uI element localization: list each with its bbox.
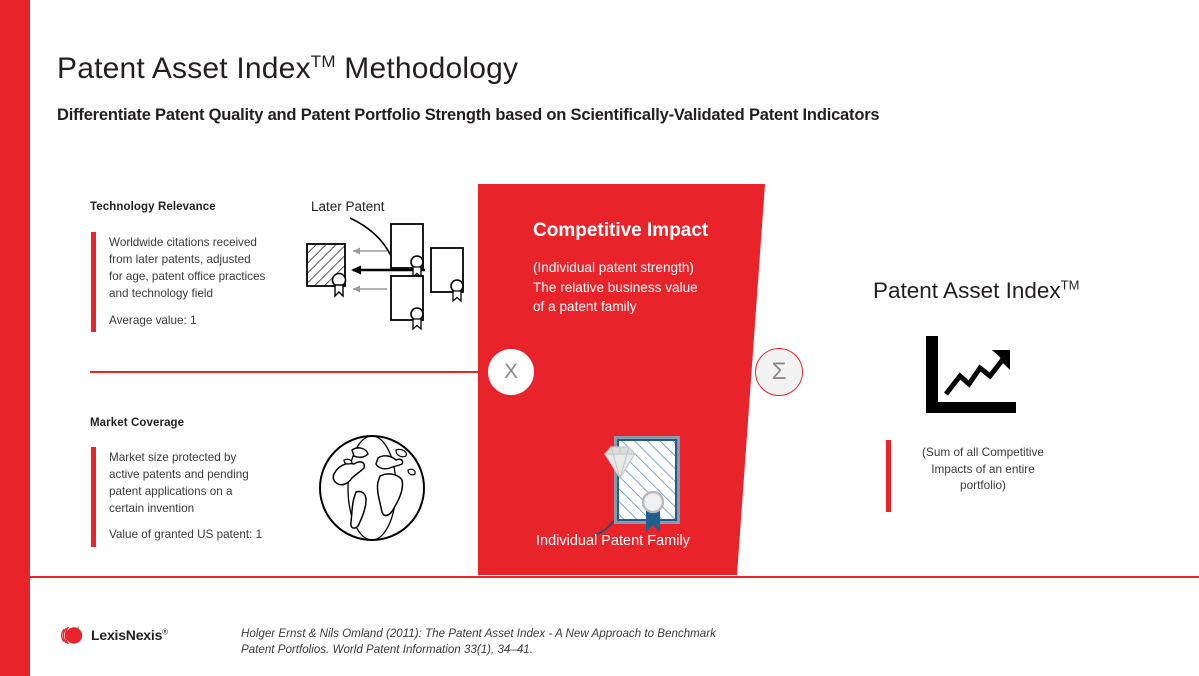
sum-symbol: Σ: [772, 358, 787, 386]
source-citation: Holger Ernst & Nils Omland (2011): The P…: [241, 626, 861, 658]
slide-canvas: Patent Asset IndexTM Methodology Differe…: [0, 0, 1199, 676]
patent-asset-index-title-text: Patent Asset Index: [873, 278, 1061, 303]
footer-divider: [30, 576, 1199, 578]
multiply-symbol: X: [504, 360, 518, 384]
lexisnexis-sphere-icon: [60, 624, 84, 646]
competitive-impact-title: Competitive Impact: [533, 220, 708, 242]
registered-symbol: ®: [162, 627, 168, 636]
patent-certificate-icon: [583, 428, 703, 543]
trademark-symbol: TM: [311, 52, 336, 71]
technology-relevance-label: Technology Relevance: [90, 201, 216, 213]
page-title-main: Patent Asset Index: [57, 52, 311, 85]
lexisnexis-wordmark-text: LexisNexis: [91, 627, 162, 643]
market-coverage-label: Market Coverage: [90, 417, 184, 429]
market-coverage-value: Value of granted US patent: 1: [109, 528, 262, 541]
technology-relevance-accent-bar: [91, 232, 96, 332]
page-title: Patent Asset IndexTM Methodology: [57, 52, 518, 86]
multiply-operator: X: [487, 348, 535, 396]
competitive-impact-description: (Individual patent strength) The relativ…: [533, 258, 763, 317]
lexisnexis-logo: LexisNexis®: [60, 624, 168, 646]
technology-relevance-description: Worldwide citations received from later …: [109, 234, 309, 302]
trademark-symbol-right: TM: [1061, 278, 1080, 293]
patent-citation-diagram-icon: [295, 196, 475, 331]
lexisnexis-wordmark: LexisNexis®: [91, 627, 168, 643]
market-coverage-accent-bar: [91, 447, 96, 547]
globe-icon: [308, 430, 436, 546]
page-subtitle: Differentiate Patent Quality and Patent …: [57, 106, 879, 125]
page-title-suffix: Methodology: [336, 52, 519, 85]
patent-asset-index-accent-bar: [886, 440, 891, 512]
growth-chart-icon: [920, 332, 1020, 418]
sum-operator: Σ: [755, 348, 803, 396]
individual-patent-family-caption: Individual Patent Family: [536, 533, 690, 549]
market-coverage-description: Market size protected by active patents …: [109, 449, 309, 517]
section-divider: [90, 371, 502, 373]
left-red-rail: [0, 0, 30, 676]
patent-asset-index-title: Patent Asset IndexTM: [873, 278, 1079, 304]
patent-asset-index-description: (Sum of all Competitive Impacts of an en…: [903, 444, 1063, 494]
technology-relevance-value: Average value: 1: [109, 314, 197, 327]
